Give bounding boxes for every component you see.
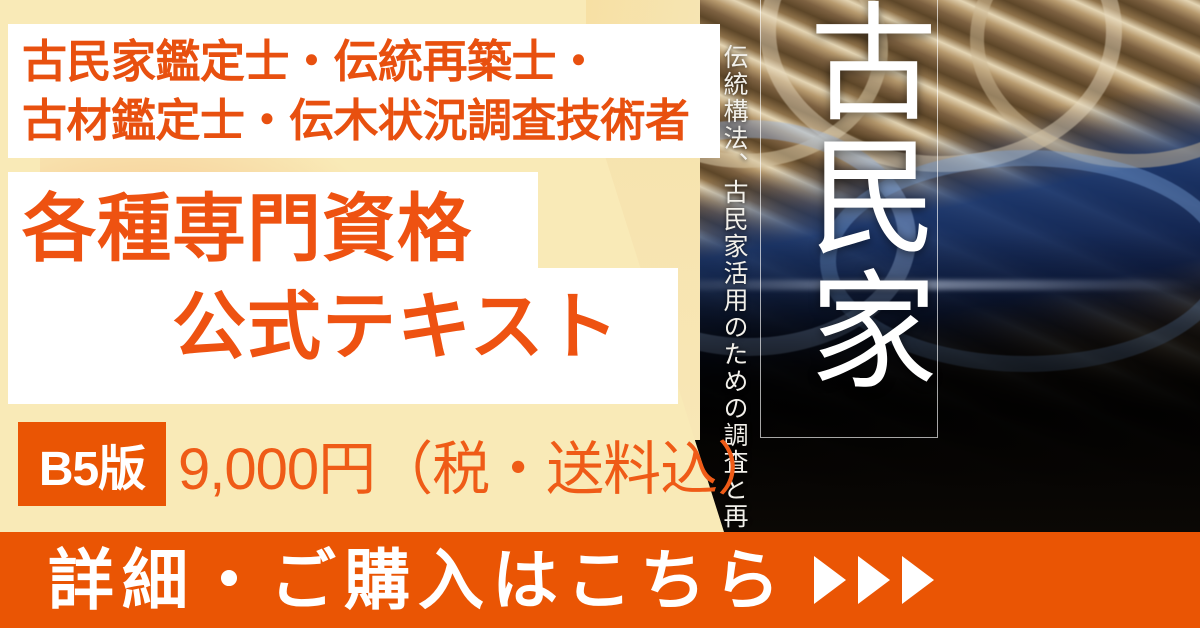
headline-line-2: 古材鑑定士・伝木状況調査技術者 bbox=[22, 91, 720, 150]
cover-title: 古民家 bbox=[768, 0, 928, 398]
promo-banner: 古民家 伝統構法、古民家活用のための調査と再生の 古民家鑑定士・伝統再築士・ 古… bbox=[0, 0, 1200, 628]
headline-line-1: 古民家鑑定士・伝統再築士・ bbox=[22, 32, 720, 91]
headline: 古民家鑑定士・伝統再築士・ 古材鑑定士・伝木状況調査技術者 bbox=[8, 24, 720, 158]
price-text: 9,000円（税・送料込） bbox=[178, 424, 774, 504]
format-badge: B5版 bbox=[18, 422, 166, 506]
arrow-right-icon bbox=[858, 556, 890, 604]
cta-label: 詳細・ご購入はこちら bbox=[48, 547, 788, 613]
cta-arrows bbox=[814, 556, 934, 604]
subheadline-card-lower bbox=[8, 268, 678, 404]
subheadline-card-upper bbox=[8, 172, 538, 268]
arrow-right-icon bbox=[814, 556, 846, 604]
cta-bar[interactable]: 詳細・ご購入はこちら bbox=[0, 532, 1200, 628]
arrow-right-icon bbox=[902, 556, 934, 604]
